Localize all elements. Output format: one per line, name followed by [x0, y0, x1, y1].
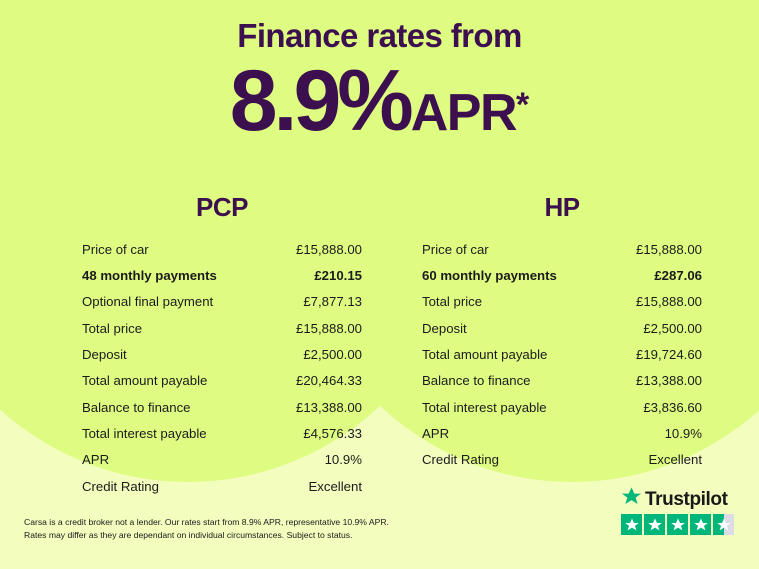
- row-label: Total price: [422, 290, 610, 316]
- row-label: Price of car: [422, 237, 610, 263]
- row-value: 10.9%: [270, 447, 362, 473]
- row-label: Credit Rating: [422, 447, 610, 473]
- table-row: Credit RatingExcellent: [422, 447, 702, 473]
- finance-rates-banner: Finance rates from 8.9% APR * PCP Price …: [0, 0, 759, 569]
- trustpilot-star-filled-icon: [621, 514, 642, 535]
- plan-title-pcp: PCP: [82, 192, 362, 223]
- row-value: £13,388.00: [610, 368, 702, 394]
- row-label: APR: [82, 447, 270, 473]
- disclaimer-text: Carsa is a credit broker not a lender. O…: [24, 516, 444, 543]
- trustpilot-star-half-icon: [713, 514, 734, 535]
- row-label: Total interest payable: [422, 395, 610, 421]
- table-row: Price of car£15,888.00: [82, 237, 362, 263]
- row-label: Balance to finance: [422, 368, 610, 394]
- trustpilot-star-filled-icon: [690, 514, 711, 535]
- headline-asterisk: *: [516, 88, 529, 122]
- row-value: £2,500.00: [270, 342, 362, 368]
- table-row: Balance to finance£13,388.00: [422, 368, 702, 394]
- headline-rate-row: 8.9% APR *: [0, 58, 759, 144]
- table-row: Total interest payable£3,836.60: [422, 395, 702, 421]
- row-label: Total price: [82, 316, 270, 342]
- table-row: Total price£15,888.00: [82, 316, 362, 342]
- row-label: Deposit: [422, 316, 610, 342]
- row-value: £2,500.00: [610, 316, 702, 342]
- row-value: £15,888.00: [610, 290, 702, 316]
- row-label: 60 monthly payments: [422, 263, 610, 289]
- headline-apr-label: APR: [411, 87, 516, 139]
- row-label: Total interest payable: [82, 421, 270, 447]
- row-value: £13,388.00: [270, 395, 362, 421]
- disclaimer-line-2: Rates may differ as they are dependant o…: [24, 529, 444, 542]
- table-row: Credit RatingExcellent: [82, 474, 362, 500]
- page-title: Finance rates from: [0, 18, 759, 54]
- row-value: 10.9%: [610, 421, 702, 447]
- trustpilot-star-rating: [621, 514, 739, 535]
- table-row: 48 monthly payments£210.15: [82, 263, 362, 289]
- row-label: 48 monthly payments: [82, 263, 270, 289]
- plan-card-pcp: PCP Price of car£15,888.0048 monthly pay…: [82, 192, 362, 500]
- row-value: £4,576.33: [270, 421, 362, 447]
- table-row: Deposit£2,500.00: [422, 316, 702, 342]
- row-value: £19,724.60: [610, 342, 702, 368]
- row-value: Excellent: [610, 447, 702, 473]
- row-label: Credit Rating: [82, 474, 270, 500]
- table-row: Optional final payment£7,877.13: [82, 290, 362, 316]
- trustpilot-wordmark: Trustpilot: [621, 488, 739, 510]
- row-value: £15,888.00: [610, 237, 702, 263]
- trustpilot-widget[interactable]: Trustpilot: [621, 488, 739, 535]
- row-label: APR: [422, 421, 610, 447]
- row-value: £15,888.00: [270, 237, 362, 263]
- trustpilot-star-icon: [621, 486, 642, 512]
- row-value: £15,888.00: [270, 316, 362, 342]
- plan-table-pcp: Price of car£15,888.0048 monthly payment…: [82, 237, 362, 500]
- table-row: Total amount payable£20,464.33: [82, 368, 362, 394]
- row-label: Balance to finance: [82, 395, 270, 421]
- table-row: Total interest payable£4,576.33: [82, 421, 362, 447]
- disclaimer-line-1: Carsa is a credit broker not a lender. O…: [24, 516, 444, 529]
- plan-title-hp: HP: [422, 192, 702, 223]
- table-row: Deposit£2,500.00: [82, 342, 362, 368]
- trustpilot-name: Trustpilot: [645, 490, 728, 509]
- row-value: Excellent: [270, 474, 362, 500]
- table-row: Total price£15,888.00: [422, 290, 702, 316]
- row-label: Deposit: [82, 342, 270, 368]
- plan-card-hp: HP Price of car£15,888.0060 monthly paym…: [422, 192, 702, 474]
- row-label: Optional final payment: [82, 290, 270, 316]
- plan-table-hp: Price of car£15,888.0060 monthly payment…: [422, 237, 702, 474]
- row-value: £3,836.60: [610, 395, 702, 421]
- row-label: Price of car: [82, 237, 270, 263]
- row-label: Total amount payable: [82, 368, 270, 394]
- table-row: Balance to finance£13,388.00: [82, 395, 362, 421]
- headline-rate-value: 8.9%: [230, 58, 410, 144]
- table-row: 60 monthly payments£287.06: [422, 263, 702, 289]
- trustpilot-star-filled-icon: [644, 514, 665, 535]
- row-label: Total amount payable: [422, 342, 610, 368]
- table-row: APR10.9%: [422, 421, 702, 447]
- table-row: Price of car£15,888.00: [422, 237, 702, 263]
- headline-block: Finance rates from 8.9% APR *: [0, 18, 759, 144]
- row-value: £7,877.13: [270, 290, 362, 316]
- table-row: Total amount payable£19,724.60: [422, 342, 702, 368]
- table-row: APR10.9%: [82, 447, 362, 473]
- row-value: £20,464.33: [270, 368, 362, 394]
- row-value: £210.15: [270, 263, 362, 289]
- trustpilot-star-filled-icon: [667, 514, 688, 535]
- row-value: £287.06: [610, 263, 702, 289]
